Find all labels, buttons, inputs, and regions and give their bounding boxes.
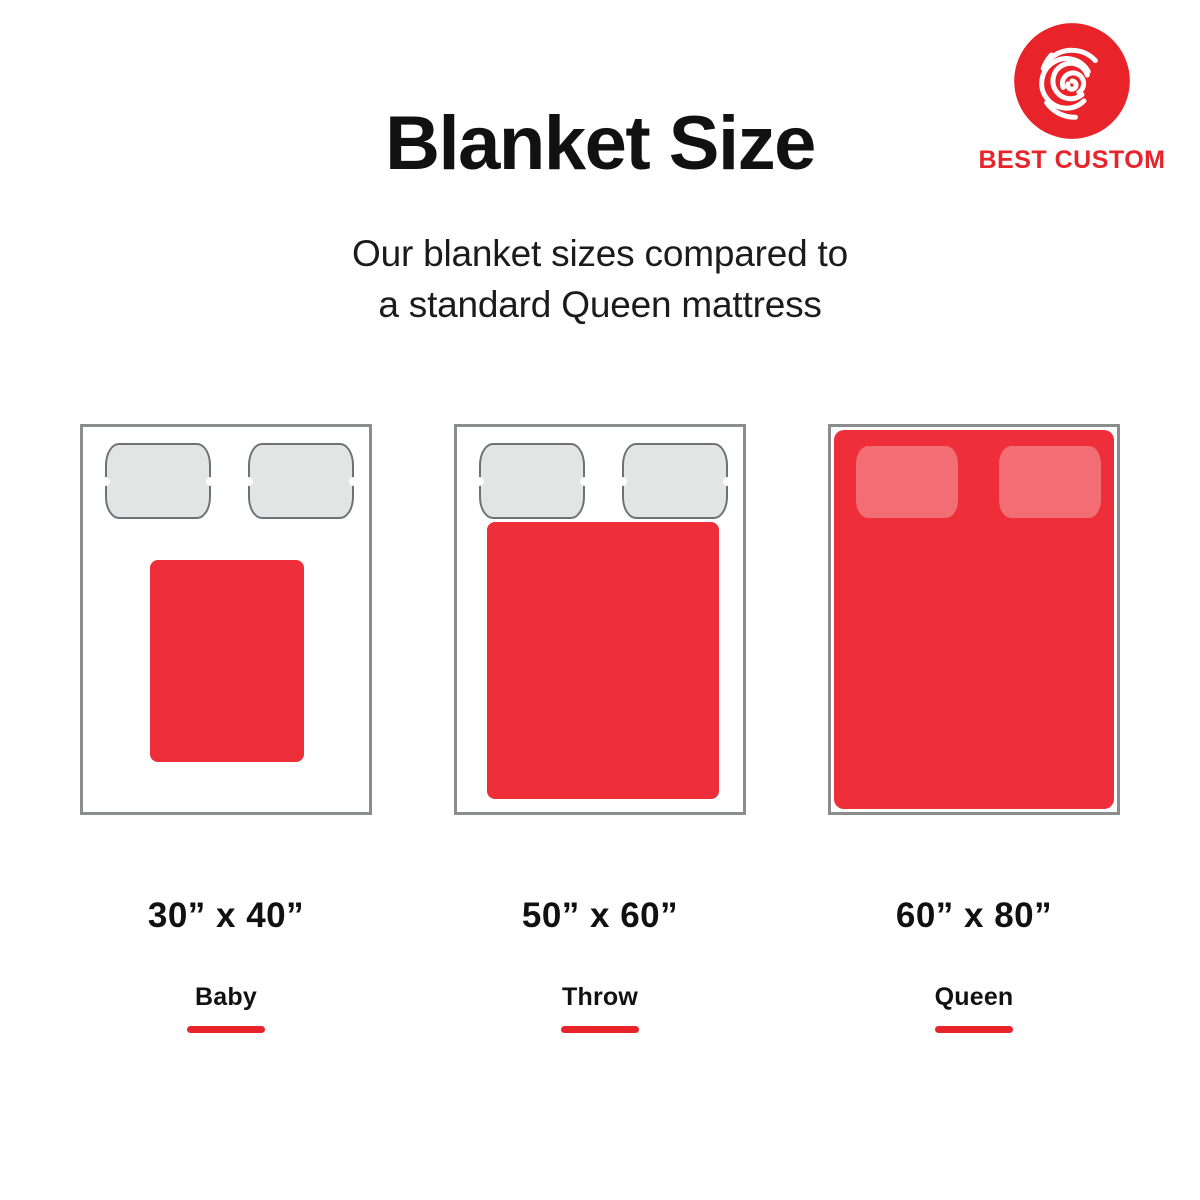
blanket-swatch-baby [150, 560, 304, 762]
bed-diagram-baby [80, 424, 372, 815]
blanket-swatch-queen [834, 430, 1114, 809]
size-name: Throw [454, 985, 746, 1010]
pillow-left [105, 443, 211, 519]
blanket-swatch-throw [487, 522, 719, 799]
size-name: Baby [80, 985, 372, 1010]
bed-comparison-diagrams [0, 424, 1200, 816]
page-title: Blanket Size [0, 106, 1200, 182]
caption-queen: 60” x 80” Queen [828, 898, 1120, 1033]
size-dimensions: 60” x 80” [828, 898, 1120, 933]
page-subtitle-line1: Our blanket sizes compared to [0, 228, 1200, 279]
bed-diagram-queen [828, 424, 1120, 815]
accent-underline [935, 1026, 1013, 1033]
accent-underline [187, 1026, 265, 1033]
pillow-left [856, 446, 958, 518]
size-dimensions: 50” x 60” [454, 898, 746, 933]
pillow-left [479, 443, 585, 519]
size-name: Queen [828, 985, 1120, 1010]
accent-underline [561, 1026, 639, 1033]
bed-captions: 30” x 40” Baby 50” x 60” Throw 60” x 80”… [0, 898, 1200, 1058]
page-subtitle: Our blanket sizes compared to a standard… [0, 228, 1200, 330]
size-dimensions: 30” x 40” [80, 898, 372, 933]
pillow-right [622, 443, 728, 519]
caption-throw: 50” x 60” Throw [454, 898, 746, 1033]
caption-baby: 30” x 40” Baby [80, 898, 372, 1033]
pillow-right [248, 443, 354, 519]
bed-diagram-throw [454, 424, 746, 815]
pillow-right [999, 446, 1101, 518]
page-subtitle-line2: a standard Queen mattress [0, 279, 1200, 330]
